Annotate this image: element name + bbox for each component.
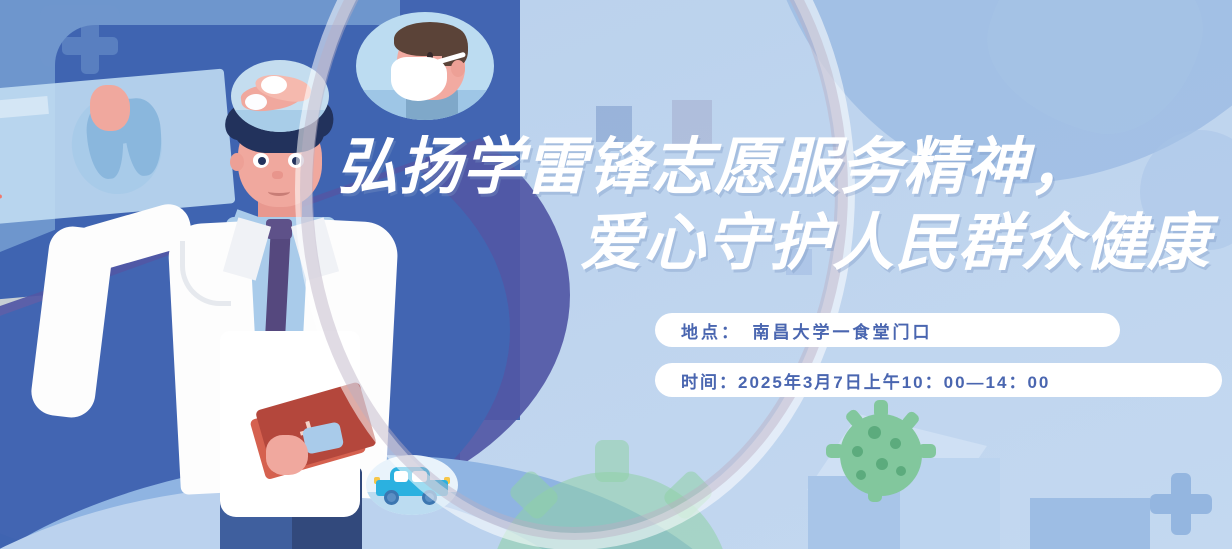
doctor-mouth: [268, 187, 290, 196]
ecg-waveform-icon: [0, 143, 62, 224]
virus-dot: [856, 470, 866, 480]
location-text: 地点： 南昌大学一食堂门口: [681, 318, 933, 343]
time-pill: 时间：2025年3月7日上午10：00—14：00: [655, 363, 1222, 397]
location-pill: 地点： 南昌大学一食堂门口: [655, 313, 1120, 347]
virus-illustration-small: [826, 400, 936, 510]
handwash-foam-2: [245, 94, 267, 110]
health-volunteer-banner: 弘扬学雷锋志愿服务精神， 爱心守护人民群众健康 地点： 南昌大学一食堂门口 时间…: [0, 0, 1232, 549]
virus-spike: [874, 400, 888, 418]
doctor-nose: [272, 171, 283, 179]
doctor-left-hand: [90, 85, 130, 131]
xray-sheen: [0, 96, 49, 121]
virus-dot: [890, 438, 901, 449]
medical-cross-icon-top-left: [62, 18, 118, 74]
cube-secondary: [1030, 498, 1150, 549]
doctor-right-hand: [266, 435, 308, 475]
virus-spike: [868, 484, 882, 502]
time-text: 时间：2025年3月7日上午10：00—14：00: [681, 368, 1050, 393]
virus-dot: [852, 446, 863, 457]
medical-cross-icon-bottom-right: [1150, 473, 1212, 535]
banner-title: 弘扬学雷锋志愿服务精神， 爱心守护人民群众健康: [330, 130, 1220, 282]
car-wheel-front: [384, 490, 399, 505]
virus-dot: [868, 426, 881, 439]
title-line-1: 弘扬学雷锋志愿服务精神，: [330, 130, 1220, 206]
handwash-foam: [261, 76, 287, 94]
title-line-2: 爱心守护人民群众健康: [330, 206, 1220, 282]
doctor-pupil-left: [258, 157, 266, 165]
doctor-ear: [230, 153, 244, 171]
virus-dot: [896, 466, 906, 476]
virus-spike: [826, 444, 844, 458]
virus-dot: [876, 458, 888, 470]
virus-spike: [918, 444, 936, 458]
